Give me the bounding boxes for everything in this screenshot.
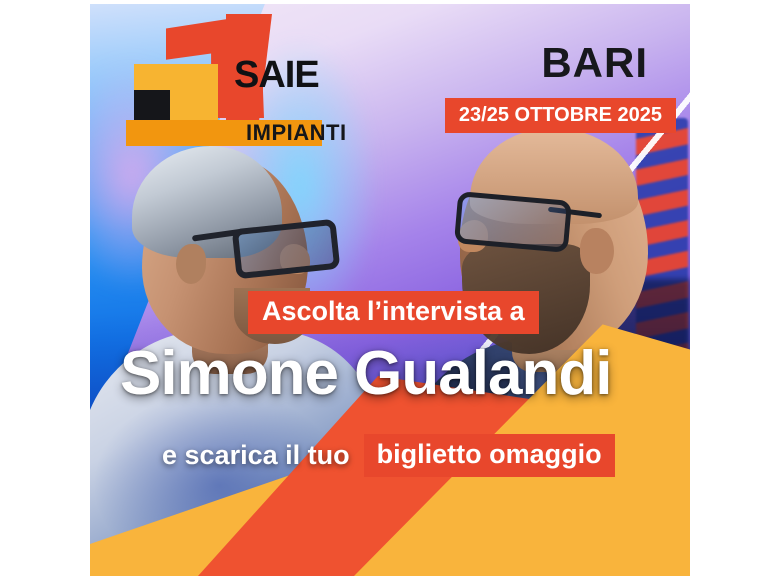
date-month: OTTOBRE <box>515 104 612 126</box>
logo-sub-text: IMPIANTI <box>246 122 347 144</box>
city-title: BARI <box>541 42 648 84</box>
guest-glasses <box>454 191 572 253</box>
date-year: 2025 <box>612 104 662 126</box>
cta-download-line: e scarica il tuo biglietto omaggio <box>162 434 615 477</box>
interviewer-ear <box>176 244 206 284</box>
speaker-name: Simone Gualandi <box>120 343 611 405</box>
cta-listen-badge: Ascolta l’intervista a <box>248 291 539 334</box>
interviewer-glasses <box>232 219 341 280</box>
saie-logo[interactable]: SAIE IMPIANTI <box>122 8 346 144</box>
logo-black-block <box>134 90 170 120</box>
guest-ear <box>580 228 614 274</box>
logo-brand-text: SAIE <box>234 56 319 94</box>
cta-ticket-badge[interactable]: biglietto omaggio <box>364 434 615 477</box>
cta-download-text: e scarica il tuo <box>162 442 350 469</box>
date-range: 23/25 <box>459 104 515 126</box>
poster-canvas: SAIE IMPIANTI BARI 23/25 OTTOBRE 2025 As… <box>90 4 690 576</box>
event-date-badge: 23/25 OTTOBRE 2025 <box>445 98 676 133</box>
